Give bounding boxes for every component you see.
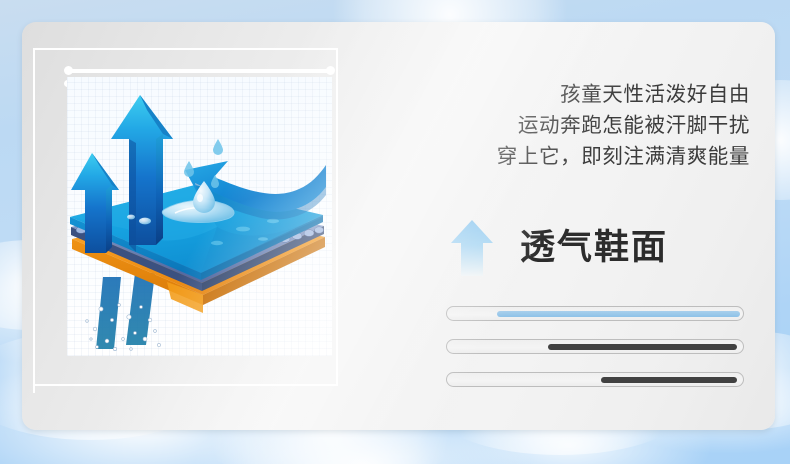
page-stage: 孩童天性活泼好自由 运动奔跑怎能被汗脚干扰 穿上它，即刻注满清爽能量: [0, 0, 790, 464]
copy-line-1: 孩童天性活泼好自由: [420, 79, 750, 110]
frame-line-bottom: [33, 384, 338, 386]
progress-bar-3[interactable]: [446, 372, 744, 387]
frame-pin-dot-right: [326, 66, 335, 75]
frame-line-top: [33, 48, 338, 50]
progress-bar-2[interactable]: [446, 339, 744, 354]
progress-bar-2-fill: [548, 344, 737, 350]
progress-bar-1[interactable]: [446, 306, 744, 321]
progress-bar-1-fill: [497, 311, 740, 317]
feature-title-row: 透气鞋面: [450, 219, 668, 277]
marketing-copy: 孩童天性活泼好自由 运动奔跑怎能被汗脚干扰 穿上它，即刻注满清爽能量: [420, 79, 750, 172]
progress-bar-3-fill: [601, 377, 737, 383]
right-content-column: 孩童天性活泼好自由 运动奔跑怎能被汗脚干扰 穿上它，即刻注满清爽能量: [420, 22, 770, 430]
frame-line-left: [33, 48, 35, 393]
frame-line-right: [336, 48, 338, 386]
progress-bar-group: [446, 306, 744, 405]
frame-pin-dot-left: [64, 66, 73, 75]
feature-title: 透气鞋面: [520, 231, 668, 266]
up-arrow-icon: [450, 219, 494, 277]
breathable-fabric-illustration: [67, 77, 332, 356]
copy-line-2: 运动奔跑怎能被汗脚干扰: [420, 110, 750, 141]
copy-line-3: 穿上它，即刻注满清爽能量: [420, 141, 750, 172]
content-card: 孩童天性活泼好自由 运动奔跑怎能被汗脚干扰 穿上它，即刻注满清爽能量: [22, 22, 775, 430]
frame-pin-bar: [66, 69, 331, 73]
